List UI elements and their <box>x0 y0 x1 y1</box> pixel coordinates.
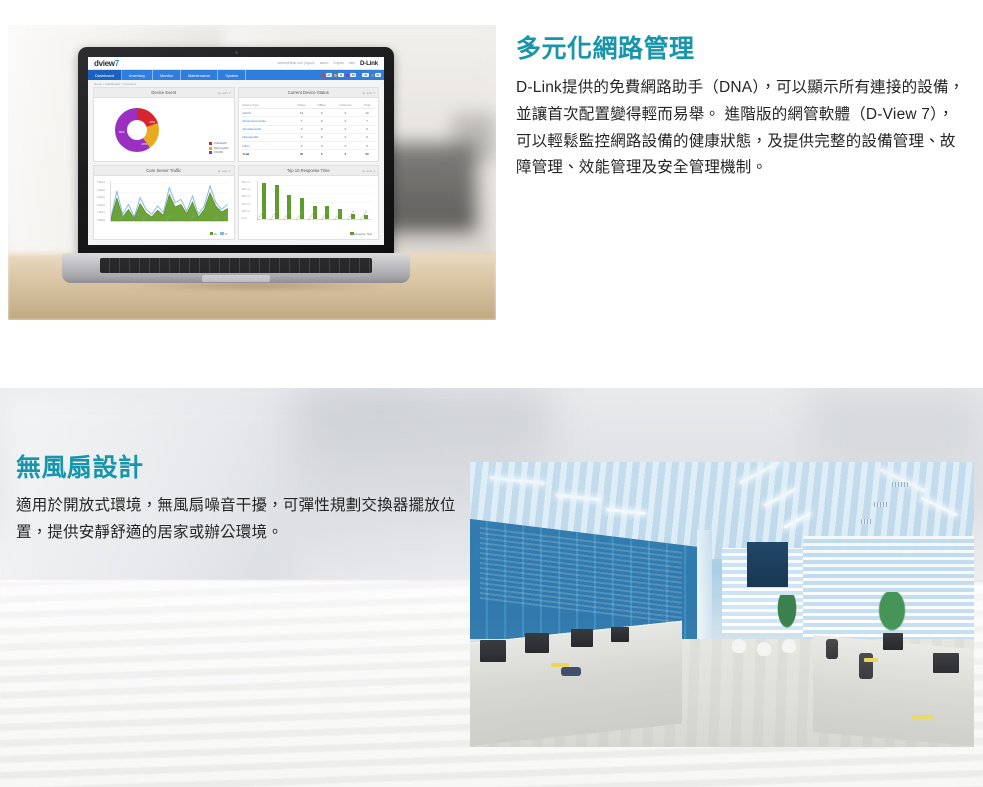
network-management-heading: 多元化網路管理 <box>516 34 966 65</box>
cell-total-online: 20 <box>291 150 311 158</box>
desktop-monitor <box>883 633 903 650</box>
response-time-legend: Response Time <box>350 232 372 236</box>
cell-offline: 0 <box>312 109 332 117</box>
col-unknown: Unknown <box>332 101 359 109</box>
y-tick: 1 Mbps <box>97 211 105 214</box>
donut-legend: Critical(20) Warning(20) Info(60) <box>209 142 229 154</box>
cell-offline: 0 <box>312 117 332 125</box>
cell-device-type[interactable]: Other <box>242 141 292 149</box>
desktop-monitor <box>611 627 629 642</box>
network-management-text-block: 多元化網路管理 D-Link提供的免費網路助手（DNA），可以顯示所有連接的設備… <box>516 34 966 182</box>
grid-icon[interactable]: ▤ <box>362 169 365 173</box>
office-pillar <box>697 530 712 644</box>
office-wall-screen <box>747 542 787 588</box>
refresh-label[interactable]: auto <box>222 91 227 95</box>
lounge-chair <box>782 639 796 653</box>
grid-icon[interactable]: ▤ <box>362 91 365 95</box>
status-badge-unknown-count: 56 <box>375 73 381 78</box>
cell-offline: 0 <box>312 133 332 141</box>
laptop-keyboard <box>100 258 372 273</box>
widget-response-time-tools[interactable]: ▤ auto ▾ <box>362 166 375 175</box>
dlink-brand-logo: D-Link <box>360 60 378 67</box>
cell-total: 7 <box>359 117 375 125</box>
status-badge-group: 23 11 56 44 56 <box>322 70 381 80</box>
fanless-design-text-block: 無風扇設計 適用於開放式環境，無風扇噪音干擾，可彈性規劃交換器擺放位置，提供安靜… <box>16 453 456 547</box>
table-row[interactable]: StandaloneAP 0 0 0 0 <box>242 125 376 133</box>
office-chair <box>859 653 873 679</box>
legend-item-warning[interactable]: Warning(20) <box>209 147 229 150</box>
legend-item-tx[interactable]: Tx <box>220 232 227 236</box>
dashboard-topbar: dview7 admin@dlink.com (logout) admin En… <box>88 57 384 70</box>
office-plant <box>772 595 802 639</box>
cell-total: 0 <box>359 141 375 149</box>
cell-online: 0 <box>291 125 311 133</box>
cell-unknown: 0 <box>332 109 359 117</box>
fanless-design-body: 適用於開放式環境，無風扇噪音干擾，可彈性規劃交換器擺放位置，提供安靜舒適的居家或… <box>16 493 456 546</box>
chevron-down-icon[interactable]: ▾ <box>229 91 230 95</box>
laptop-trackpad <box>202 275 270 282</box>
cell-total-offline: 0 <box>312 150 332 158</box>
dview-logo[interactable]: dview7 <box>94 59 119 68</box>
cell-device-type[interactable]: Switch <box>242 109 292 117</box>
widget-response-time-title: Top 10 Response Time <box>287 168 330 173</box>
device-status-table: Device Type Online Offline Unknown Total <box>242 101 376 157</box>
cell-online: 13 <box>291 109 311 117</box>
desk-item-folder <box>912 715 934 719</box>
table-row[interactable]: WirelessController 7 0 0 7 <box>242 117 376 125</box>
widget-device-status-header: Current Device Status ▤ auto ▾ <box>239 88 379 98</box>
device-event-donut-chart: 20% 20% 60% <box>115 108 159 152</box>
widget-device-status: Current Device Status ▤ auto ▾ <box>238 87 380 162</box>
legend-label-response-time: Response Time <box>355 233 373 236</box>
donut-label-warning: 20% <box>141 142 147 146</box>
table-row[interactable]: ManagedAP 0 0 0 0 <box>242 133 376 141</box>
legend-label-warning: Warning(20) <box>214 147 229 150</box>
chevron-down-icon[interactable]: ▾ <box>374 91 375 95</box>
dashboard-widget-grid: Device Event ▤ auto ▾ <box>88 87 384 244</box>
donut-label-info: 60% <box>119 130 125 134</box>
y-tick: 5 Mbps <box>97 181 105 184</box>
table-header-row: Device Type Online Offline Unknown Total <box>242 101 376 109</box>
cell-total: 13 <box>359 109 375 117</box>
desktop-monitor <box>525 633 549 653</box>
office-photo-frame <box>470 462 974 747</box>
y-tick: 200 ms <box>242 203 250 206</box>
cell-offline: 0 <box>312 141 332 149</box>
cell-total-total: 20 <box>359 150 375 158</box>
status-badge-warning[interactable]: 11 <box>334 73 344 78</box>
legend-label-critical: Critical(20) <box>214 142 227 145</box>
cell-device-type[interactable]: ManagedAP <box>242 133 292 141</box>
dview-logo-version: 7 <box>115 59 119 68</box>
dashboard-nav: Dashboard Inventory Monitor Maintenance … <box>88 70 384 80</box>
status-badge-online-count: 44 <box>362 73 368 78</box>
widget-device-event: Device Event ▤ auto ▾ <box>93 87 235 162</box>
widget-device-event-body: 20% 20% 60% Critical(20) Warning(20) <box>94 98 234 161</box>
y-tick: 400 ms <box>242 188 250 191</box>
status-badge-online[interactable]: 44 <box>358 73 368 78</box>
tab-system[interactable]: System <box>218 70 246 80</box>
cell-online: 0 <box>291 141 311 149</box>
col-offline: Offline <box>312 101 332 109</box>
y-tick: 300 ms <box>242 195 250 198</box>
response-time-y-axis: 500 ms 400 ms 300 ms 200 ms 100 ms 0 ms <box>242 181 250 220</box>
table-total-row: Total 20 0 0 20 <box>242 150 376 158</box>
response-time-x-axis: 10.90.90.9110.90.90.9210.90.90.9310.90.9… <box>257 220 373 230</box>
account-label[interactable]: admin@dlink.com (logout) <box>278 61 315 65</box>
widget-device-event-title: Device Event <box>151 90 176 95</box>
cell-unknown: 0 <box>332 125 359 133</box>
col-device-type: Device Type <box>242 101 292 109</box>
cell-total-unknown: 0 <box>332 150 359 158</box>
table-row[interactable]: Switch 13 0 0 13 <box>242 109 376 117</box>
status-badge-info[interactable]: 56 <box>346 73 356 78</box>
y-tick: 100 ms <box>242 210 250 213</box>
widget-core-traffic-tools[interactable]: ▤ auto ▾ <box>218 166 231 175</box>
donut-chart-wrap: 20% 20% 60% Critical(20) Warning(20) <box>97 101 231 158</box>
lounge-chair <box>732 639 746 653</box>
network-management-body: D-Link提供的免費網路助手（DNA），可以顯示所有連接的設備，並讓首次配置變… <box>516 75 966 182</box>
donut-label-critical: 20% <box>149 120 155 124</box>
cell-unknown: 0 <box>332 141 359 149</box>
widget-device-status-body: Device Type Online Offline Unknown Total <box>239 98 379 161</box>
table-row[interactable]: Other 0 0 0 0 <box>242 141 376 149</box>
breadcrumb: Home > Dashboard > Overview <box>88 80 384 87</box>
cell-device-type[interactable]: StandaloneAP <box>242 125 292 133</box>
status-badge-unknown[interactable]: 56 <box>371 73 381 78</box>
ceiling-vent <box>861 519 873 524</box>
widget-response-time: Top 10 Response Time ▤ auto ▾ <box>238 165 380 240</box>
user-menu[interactable]: admin <box>320 61 329 65</box>
legend-item-info[interactable]: Info(60) <box>209 151 229 154</box>
col-total: Total <box>359 101 375 109</box>
widget-response-time-header: Top 10 Response Time ▤ auto ▾ <box>239 166 379 176</box>
widget-core-server-traffic: Core Server Traffic ▤ auto ▾ <box>93 165 235 240</box>
widget-device-event-tools[interactable]: ▤ auto ▾ <box>218 88 231 97</box>
widget-core-traffic-header: Core Server Traffic ▤ auto ▾ <box>94 166 234 176</box>
section-fanless-design: 無風扇設計 適用於開放式環境，無風扇噪音干擾，可彈性規劃交換器擺放位置，提供安靜… <box>0 388 983 787</box>
refresh-label[interactable]: auto <box>367 91 372 95</box>
product-feature-page: dview7 admin@dlink.com (logout) admin En… <box>0 0 983 787</box>
cell-total-label: Total <box>242 150 292 158</box>
cell-device-type[interactable]: WirelessController <box>242 117 292 125</box>
language-menu[interactable]: English <box>333 61 343 65</box>
refresh-label[interactable]: auto <box>367 169 372 173</box>
status-badge-warning-count: 11 <box>338 73 344 78</box>
desktop-monitor <box>933 653 959 673</box>
tab-dashboard[interactable]: Dashboard <box>88 70 122 80</box>
desktop-monitor <box>571 629 593 647</box>
col-online: Online <box>291 101 311 109</box>
lounge-chair <box>757 642 771 656</box>
legend-item-response-time[interactable]: Response Time <box>350 232 372 236</box>
desk-item-folder <box>551 663 569 667</box>
grid-icon[interactable]: ▤ <box>218 91 221 95</box>
dashboard-topbar-right: admin@dlink.com (logout) admin English h… <box>278 60 378 67</box>
cell-unknown: 0 <box>332 117 359 125</box>
y-tick: 0 ms <box>242 217 250 220</box>
cell-total: 0 <box>359 125 375 133</box>
widget-core-traffic-title: Core Server Traffic <box>146 168 181 173</box>
laptop-device: dview7 admin@dlink.com (logout) admin En… <box>78 47 394 292</box>
core-traffic-x-axis: 11:10 AM 11:20 AM 11:30 AM 11:40 AM 11:5… <box>110 222 228 231</box>
breadcrumb-text[interactable]: Home > Dashboard > Overview <box>94 82 136 86</box>
office-interior-photo <box>470 462 974 787</box>
y-tick: 4 Mbps <box>97 189 105 192</box>
legend-item-rx[interactable]: Rx <box>210 232 218 236</box>
status-badge-critical[interactable]: 23 <box>322 73 332 78</box>
tab-maintenance[interactable]: Maintenance <box>181 70 218 80</box>
status-badge-info-count: 56 <box>350 73 356 78</box>
dview-logo-text: dview <box>94 59 115 68</box>
cell-offline: 0 <box>312 125 332 133</box>
y-tick: 500 ms <box>242 181 250 184</box>
widget-device-status-title: Current Device Status <box>288 90 329 95</box>
widget-device-status-tools[interactable]: ▤ auto ▾ <box>362 88 375 97</box>
legend-label-rx: Rx <box>214 233 217 236</box>
core-traffic-y-axis: 5 Mbps 4 Mbps 3 Mbps 2 Mbps 1 Mbps 0 Mbp… <box>97 181 105 222</box>
y-tick: 2 Mbps <box>97 204 105 207</box>
laptop-screen: dview7 admin@dlink.com (logout) admin En… <box>88 57 384 245</box>
y-tick: 3 Mbps <box>97 196 105 199</box>
widget-device-event-header: Device Event ▤ auto ▾ <box>94 88 234 98</box>
core-traffic-area-chart: 5 Mbps 4 Mbps 3 Mbps 2 Mbps 1 Mbps 0 Mbp… <box>97 179 231 236</box>
chevron-down-icon[interactable]: ▾ <box>229 169 230 173</box>
desktop-monitor <box>480 640 506 662</box>
desk-item-folder <box>864 658 878 662</box>
cell-online: 0 <box>291 133 311 141</box>
grid-icon[interactable]: ▤ <box>218 169 221 173</box>
ceiling-vent <box>892 482 908 487</box>
legend-label-tx: Tx <box>225 233 228 236</box>
dview7-dashboard: dview7 admin@dlink.com (logout) admin En… <box>88 57 384 245</box>
tab-monitor[interactable]: Monitor <box>153 70 181 80</box>
widget-core-traffic-body: 5 Mbps 4 Mbps 3 Mbps 2 Mbps 1 Mbps 0 Mbp… <box>94 176 234 239</box>
section-network-management: dview7 admin@dlink.com (logout) admin En… <box>0 0 983 388</box>
core-traffic-legend: Rx Tx <box>210 232 228 236</box>
legend-item-critical[interactable]: Critical(20) <box>209 142 229 145</box>
webcam-icon <box>235 51 238 54</box>
cell-unknown: 0 <box>332 133 359 141</box>
status-badge-critical-count: 23 <box>326 73 332 78</box>
office-chair <box>826 639 838 659</box>
help-menu[interactable]: help <box>349 61 355 65</box>
refresh-label[interactable]: auto <box>222 169 227 173</box>
desk-item-bag <box>561 667 581 676</box>
cell-total: 0 <box>359 133 375 141</box>
widget-response-time-body: 500 ms 400 ms 300 ms 200 ms 100 ms 0 ms <box>239 176 379 239</box>
laptop-dashboard-photo: dview7 admin@dlink.com (logout) admin En… <box>8 25 496 320</box>
cell-online: 7 <box>291 117 311 125</box>
ceiling-vent <box>874 502 888 507</box>
legend-label-info: Info(60) <box>214 151 223 154</box>
y-tick: 0 Mbps <box>97 219 105 222</box>
laptop-lid: dview7 admin@dlink.com (logout) admin En… <box>78 47 394 255</box>
tab-inventory[interactable]: Inventory <box>122 70 153 80</box>
response-time-bar-chart: 500 ms 400 ms 300 ms 200 ms 100 ms 0 ms <box>242 179 376 236</box>
fanless-design-heading: 無風扇設計 <box>16 453 456 484</box>
chevron-down-icon[interactable]: ▾ <box>374 169 375 173</box>
